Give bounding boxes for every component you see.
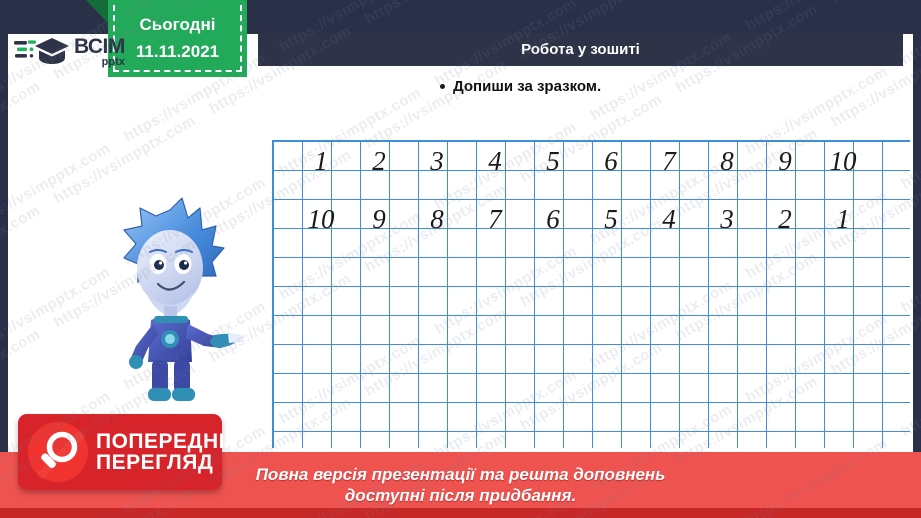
preview-badge-line1: ПОПЕРЕДНІЙ: [96, 431, 241, 452]
fixie-character-image: [96, 196, 246, 411]
notebook-grid: [272, 140, 910, 459]
page-title: Робота у зошиті: [521, 41, 640, 58]
magnifier-icon: [28, 422, 88, 482]
bullet-dot-icon: [440, 84, 445, 89]
task-bullet-line: Допиши за зразком.: [440, 78, 601, 95]
logo-sub-text: pptx: [102, 57, 125, 67]
purchase-notice-line2: доступні після придбання.: [345, 485, 576, 506]
grid-number: 9: [756, 146, 814, 177]
graduation-cap-icon: [14, 32, 70, 73]
grid-number: 4: [466, 146, 524, 177]
grid-number: 7: [640, 146, 698, 177]
grid-number: 8: [408, 204, 466, 235]
purchase-notice-line1: Повна версія презентації та решта доповн…: [256, 464, 666, 485]
grid-number: 3: [408, 146, 466, 177]
brand-logo[interactable]: ВСІМ pptx: [14, 31, 144, 73]
slide-title-bar: Робота у зошиті: [258, 33, 903, 66]
grid-number: 5: [524, 146, 582, 177]
grid-number: 8: [698, 146, 756, 177]
grid-number: 6: [524, 204, 582, 235]
grid-number: 7: [466, 204, 524, 235]
grid-number: 6: [582, 146, 640, 177]
banner-bottom-strip: [0, 508, 921, 518]
date-badge-label: Сьогодні: [140, 15, 216, 35]
date-badge-date: 11.11.2021: [136, 42, 219, 62]
preview-badge-line2: ПЕРЕГЛЯД: [96, 452, 241, 473]
grid-number: 4: [640, 204, 698, 235]
preview-badge: ПОПЕРЕДНІЙ ПЕРЕГЛЯД: [18, 414, 222, 490]
grid-number: 2: [756, 204, 814, 235]
grid-number: 1: [292, 146, 350, 177]
logo-main-text: ВСІМ: [74, 37, 125, 56]
logo-wordmark: ВСІМ pptx: [74, 37, 125, 66]
grid-number: 1: [814, 204, 872, 235]
grid-number: 10: [292, 204, 350, 235]
slide-canvas: 1 2 3 4 5 6 7 8 9 10 10 9 8 7 6 5 4 3 2 …: [0, 0, 921, 518]
grid-number: 10: [814, 146, 872, 177]
grid-number: 9: [350, 204, 408, 235]
notebook-row-descending: 10 9 8 7 6 5 4 3 2 1: [292, 205, 872, 234]
preview-badge-text: ПОПЕРЕДНІЙ ПЕРЕГЛЯД: [96, 431, 241, 473]
grid-number: 3: [698, 204, 756, 235]
grid-number: 5: [582, 204, 640, 235]
grid-number: 2: [350, 146, 408, 177]
task-text: Допиши за зразком.: [453, 78, 601, 95]
notebook-row-ascending: 1 2 3 4 5 6 7 8 9 10: [292, 147, 872, 176]
